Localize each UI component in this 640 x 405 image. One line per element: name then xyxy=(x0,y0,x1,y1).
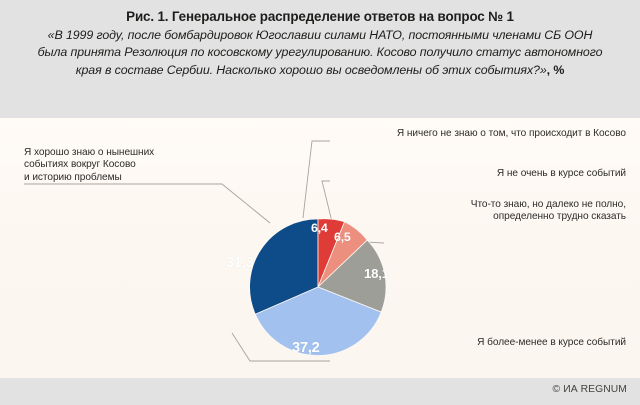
chart-plot-area: 31,3 6,4 6,5 18,1 37,2 Я хорошо знаю о н… xyxy=(0,118,640,378)
chart-subtitle-units: , % xyxy=(547,63,565,77)
pie-callout-label-4: Я более-менее в курсе событий xyxy=(326,337,626,349)
pie-callout-label-0: Я хорошо знаю о нынешних событиях вокруг… xyxy=(24,147,214,184)
pie-callout-label-3: Что-то знаю, но далеко не полно, определ… xyxy=(326,199,626,224)
pie-callout-label-1: Я ничего не знаю о том, что происходит в… xyxy=(296,128,626,140)
infographic-root: Рис. 1. Генеральное распределение ответо… xyxy=(0,0,640,405)
header-band: Рис. 1. Генеральное распределение ответо… xyxy=(0,0,640,118)
chart-subtitle-question: «В 1999 году, после бомбардировок Югосла… xyxy=(38,28,603,77)
pie-callout-label-2: Я не очень в курсе событий xyxy=(296,168,626,180)
pie-value-label-4: 37,2 xyxy=(292,340,320,356)
page-title: Рис. 1. Генеральное распределение ответо… xyxy=(34,9,606,25)
pie-slices xyxy=(250,219,386,356)
chart-subtitle: «В 1999 году, после бомбардировок Югосла… xyxy=(34,27,606,79)
copyright-credit: © ИА REGNUM xyxy=(553,384,627,395)
pie-value-label-2: 6,5 xyxy=(334,230,351,244)
pie-value-label-0: 31,3 xyxy=(226,255,254,271)
pie-value-label-3: 18,1 xyxy=(364,266,389,281)
footer-band: © ИА REGNUM xyxy=(0,378,640,405)
